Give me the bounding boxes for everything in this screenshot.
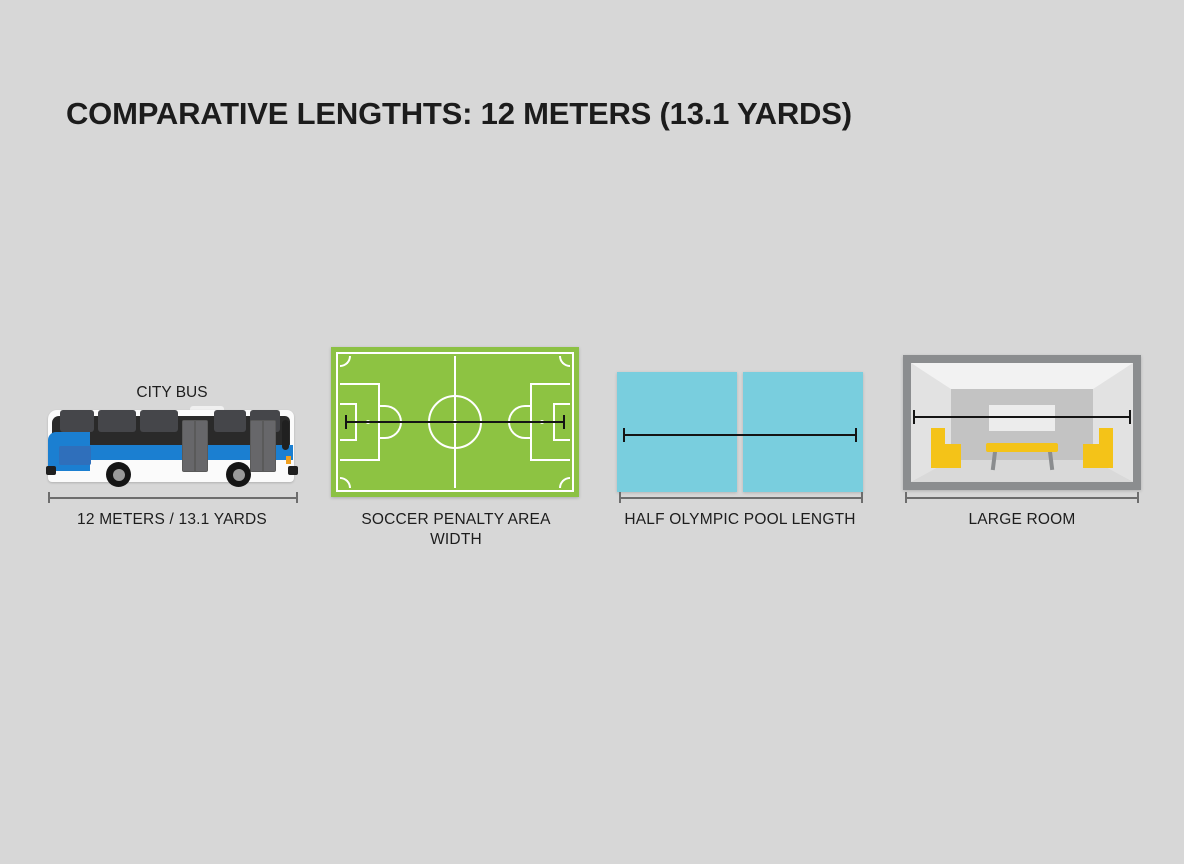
corner-arc-top-left: [340, 356, 351, 367]
bus-front-wheel: [106, 462, 131, 487]
bus-door-leaf: [264, 421, 275, 471]
page-title: COMPARATIVE LENGTHTS: 12 METERS (13.1 YA…: [66, 96, 852, 132]
bus-middle-door: [182, 420, 208, 472]
city-bus-inline-label: CITY BUS: [44, 384, 300, 402]
measure-cap-right: [1129, 410, 1131, 424]
room-dimension-line: [905, 492, 1139, 503]
bus-rear-door: [250, 420, 276, 472]
bus-rear-bumper: [288, 466, 298, 475]
bus-mirror: [282, 420, 289, 450]
city-bus-caption: 12 METERS / 13.1 YARDS: [40, 510, 304, 530]
dimension-bar: [905, 497, 1139, 499]
dimension-cap-right: [1137, 492, 1139, 503]
bus-window: [140, 410, 178, 432]
measure-bar: [913, 416, 1131, 418]
measure-bar: [623, 434, 857, 436]
soccer-measure-line: [345, 415, 565, 429]
bus-window: [60, 410, 94, 432]
bus-door-leaf: [196, 421, 207, 471]
armchair-right: [1083, 428, 1113, 468]
bus-door-leaf: [251, 421, 262, 471]
measure-cap-right: [855, 428, 857, 442]
city-bus-icon: [46, 406, 298, 489]
coffee-table: [986, 443, 1058, 452]
city-bus-dimension-line: [48, 492, 298, 503]
pool-caption: HALF OLYMPIC POOL LENGTH: [607, 510, 873, 530]
corner-arc-top-right: [559, 356, 570, 367]
comparison-panels: CITY BUS: [0, 340, 1184, 580]
corner-arc-bottom-left: [340, 477, 351, 488]
armchair-seat: [931, 444, 961, 468]
dimension-bar: [619, 497, 863, 499]
room-caption: LARGE ROOM: [891, 510, 1153, 530]
measure-cap-right: [563, 415, 565, 429]
bus-front-bumper: [46, 466, 56, 475]
room-measure-line: [913, 410, 1131, 424]
armchair-seat: [1083, 444, 1113, 468]
bus-window: [214, 410, 246, 432]
bus-indicator-light: [286, 456, 291, 464]
dimension-cap-right: [296, 492, 298, 503]
bus-rear-wheel: [226, 462, 251, 487]
armchair-left: [931, 428, 961, 468]
bus-window: [98, 410, 136, 432]
pool-measure-line: [623, 428, 857, 442]
bus-front-panel: [59, 446, 91, 465]
dimension-bar: [48, 497, 298, 499]
dimension-cap-right: [861, 492, 863, 503]
measure-bar: [345, 421, 565, 423]
soccer-caption: SOCCER PENALTY AREA WIDTH: [323, 510, 589, 550]
pool-dimension-line: [619, 492, 863, 503]
bus-door-leaf: [183, 421, 194, 471]
corner-arc-bottom-right: [559, 477, 570, 488]
